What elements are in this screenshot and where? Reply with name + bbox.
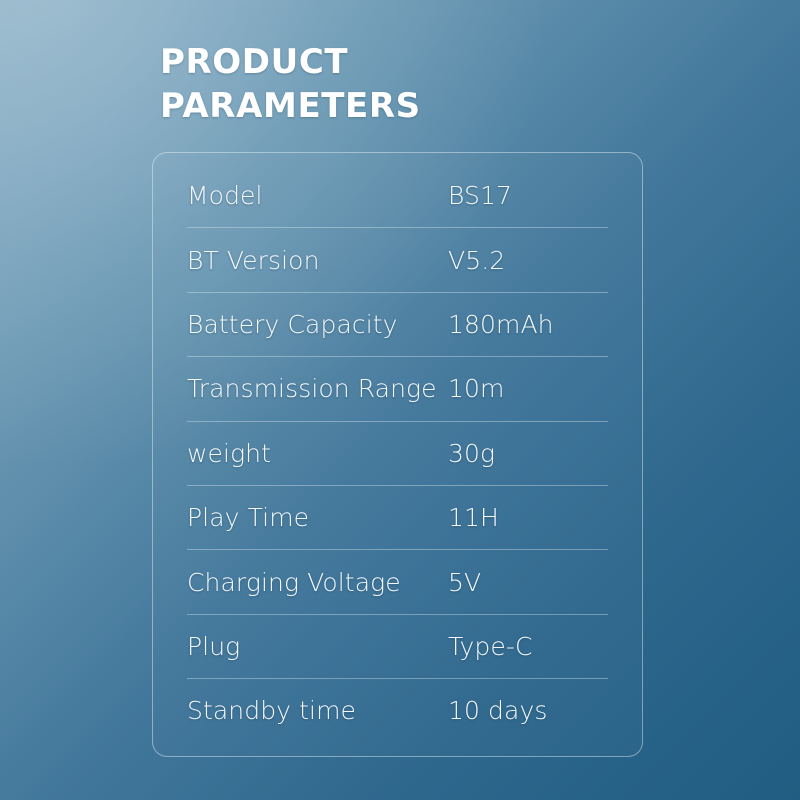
table-row: Standby time 10 days — [187, 679, 608, 742]
table-row: Play Time 11H — [187, 486, 608, 550]
spec-label: Play Time — [187, 503, 448, 532]
spec-label: Model — [187, 181, 448, 210]
table-row: weight 30g — [187, 422, 608, 486]
table-row: Transmission Range 10m — [187, 357, 608, 421]
spec-value: 5V — [448, 568, 608, 597]
spec-value: 11H — [448, 503, 608, 532]
spec-value: BS17 — [448, 181, 608, 210]
spec-value: 10 days — [448, 696, 608, 725]
table-row: Battery Capacity 180mAh — [187, 293, 608, 357]
product-parameters-page: PRODUCT PARAMETERS Model BS17 BT Version… — [0, 0, 800, 800]
spec-label: Standby time — [187, 696, 448, 725]
page-title: PRODUCT PARAMETERS — [160, 40, 680, 128]
spec-label: weight — [187, 439, 448, 468]
spec-value: V5.2 — [448, 246, 608, 275]
page-title-line-1: PRODUCT — [160, 40, 680, 84]
table-row: Plug Type-C — [187, 615, 608, 679]
spec-label: Charging Voltage — [187, 568, 448, 597]
spec-value: Type-C — [448, 632, 608, 661]
page-title-line-2: PARAMETERS — [160, 84, 680, 128]
spec-table: Model BS17 BT Version V5.2 Battery Capac… — [187, 164, 608, 743]
table-row: Model BS17 — [187, 164, 608, 228]
spec-value: 10m — [448, 374, 608, 403]
spec-value: 180mAh — [448, 310, 608, 339]
spec-label: BT Version — [187, 246, 448, 275]
spec-label: Plug — [187, 632, 448, 661]
table-row: BT Version V5.2 — [187, 228, 608, 292]
spec-value: 30g — [448, 439, 608, 468]
table-row: Charging Voltage 5V — [187, 550, 608, 614]
spec-label: Battery Capacity — [187, 310, 448, 339]
spec-card: Model BS17 BT Version V5.2 Battery Capac… — [152, 152, 643, 757]
spec-label: Transmission Range — [187, 374, 448, 403]
